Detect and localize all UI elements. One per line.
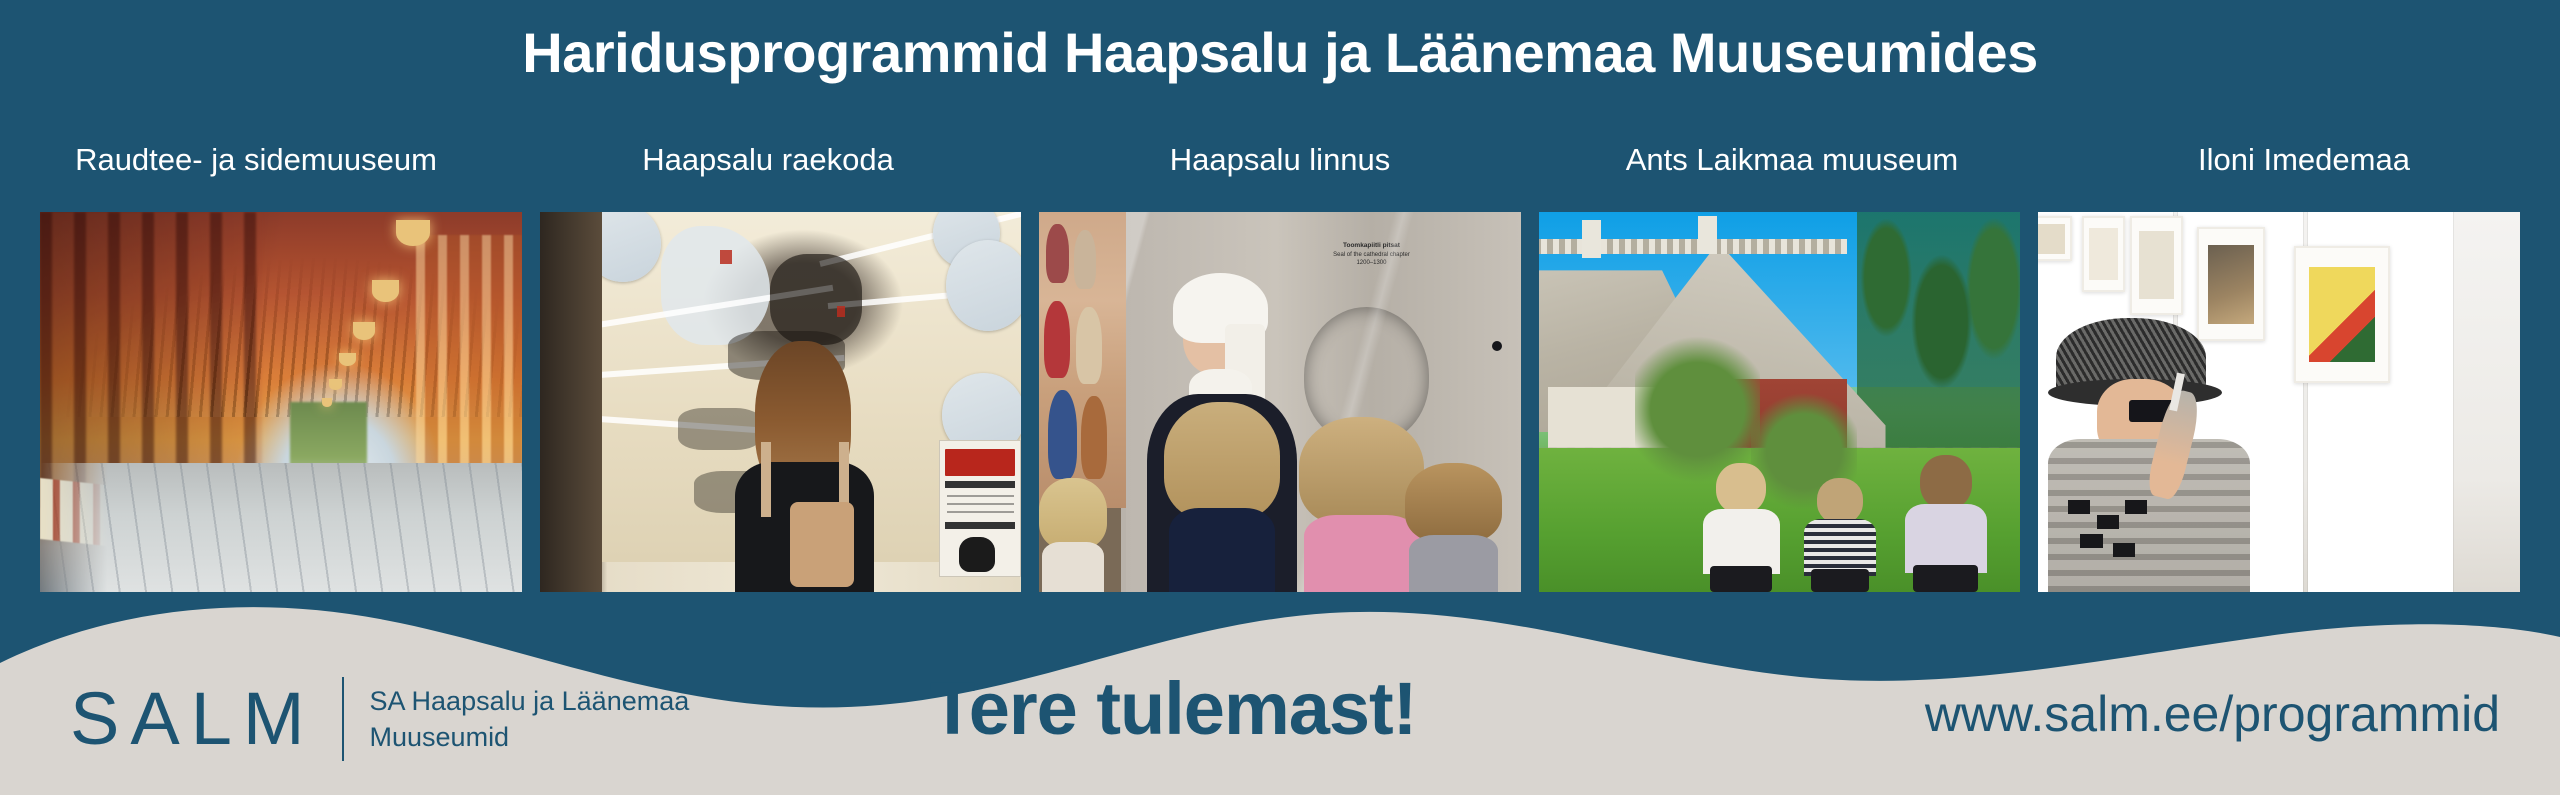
display-case-knob-icon xyxy=(1492,341,1502,351)
website-url[interactable]: www.salm.ee/programmid xyxy=(1925,685,2500,743)
map-highlight-marker xyxy=(720,250,733,264)
photo-imedemaa-gallery xyxy=(2038,212,2520,592)
newspaper-masthead xyxy=(945,449,1015,476)
hanging-lamp-icon xyxy=(329,379,342,390)
map-highlight-marker xyxy=(837,306,845,316)
child-hair xyxy=(1405,463,1501,543)
sweater-pattern-block xyxy=(2068,500,2090,514)
newspaper-text-line xyxy=(947,503,1014,505)
map-photo-bubble xyxy=(946,240,1021,331)
chimney xyxy=(1698,216,1717,254)
logo-subtitle-line2: Muuseumid xyxy=(370,719,690,755)
newspaper-text-line xyxy=(947,495,1014,497)
photo-raudtee-colonnade xyxy=(40,212,522,592)
child-head xyxy=(1716,463,1765,515)
framed-artwork xyxy=(2294,246,2390,383)
backpack-strap xyxy=(761,442,771,517)
hanging-lamp-icon xyxy=(322,398,333,406)
photo-laikmaa-house xyxy=(1539,212,2021,592)
mural-figure xyxy=(1046,224,1069,283)
mural-figure xyxy=(1076,307,1102,384)
newspaper-subhead xyxy=(945,522,1015,529)
logo-subtitle: SA Haapsalu ja Läänemaa Muuseumid xyxy=(370,683,690,756)
museum-label-laikmaa: Ants Laikmaa muuseum xyxy=(1536,140,2048,180)
child-hair xyxy=(1039,478,1106,549)
banner-root: Haridusprogrammid Haapsalu ja Läänemaa M… xyxy=(0,0,2560,795)
map-water-area xyxy=(661,226,770,345)
logo-wordmark: SALM xyxy=(70,682,316,756)
museum-label-imedemaa: Iloni Imedemaa xyxy=(2048,140,2560,180)
framed-artwork xyxy=(2038,216,2072,262)
logo-divider xyxy=(342,677,344,761)
framed-artwork xyxy=(2130,216,2183,315)
mural-figure xyxy=(1074,230,1097,289)
chimney xyxy=(1582,220,1601,258)
page-title: Haridusprogrammid Haapsalu ja Läänemaa M… xyxy=(0,20,2560,85)
child-head xyxy=(1920,455,1972,510)
mural-figure xyxy=(1044,301,1070,378)
hanging-lamp-icon xyxy=(372,280,399,301)
hanging-lamp-icon xyxy=(353,322,375,339)
logo-subtitle-line1: SA Haapsalu ja Läänemaa xyxy=(370,683,690,719)
sweater-pattern-block xyxy=(2125,500,2147,514)
welcome-heading: Tere tulemast! xyxy=(930,666,1416,751)
salm-logo[interactable]: SALM SA Haapsalu ja Läänemaa Muuseumid xyxy=(70,677,689,761)
child-hair xyxy=(1164,402,1280,520)
mural-figure xyxy=(1048,390,1077,479)
exhibit-side-wall xyxy=(540,212,603,592)
photo-raekoda-map-exhibit xyxy=(540,212,1022,592)
museum-label-raudtee: Raudtee- ja sidemuuseum xyxy=(0,140,512,180)
photo-strip: Toomkapiitli pitsat Seal of the cathedra… xyxy=(40,212,2520,592)
newspaper-subhead xyxy=(945,481,1015,488)
child-head xyxy=(1817,478,1863,524)
framed-artwork xyxy=(2082,216,2125,292)
mural-figure xyxy=(1081,396,1107,479)
newspaper-text-line xyxy=(947,511,1014,513)
museum-label-linnus: Haapsalu linnus xyxy=(1024,140,1536,180)
medieval-mural xyxy=(1039,212,1126,508)
museum-label-row: Raudtee- ja sidemuuseum Haapsalu raekoda… xyxy=(0,140,2560,180)
sweater-pattern-block xyxy=(2097,515,2119,529)
museum-label-raekoda: Haapsalu raekoda xyxy=(512,140,1024,180)
photo-linnus-guide-children: Toomkapiitli pitsat Seal of the cathedra… xyxy=(1039,212,1521,592)
